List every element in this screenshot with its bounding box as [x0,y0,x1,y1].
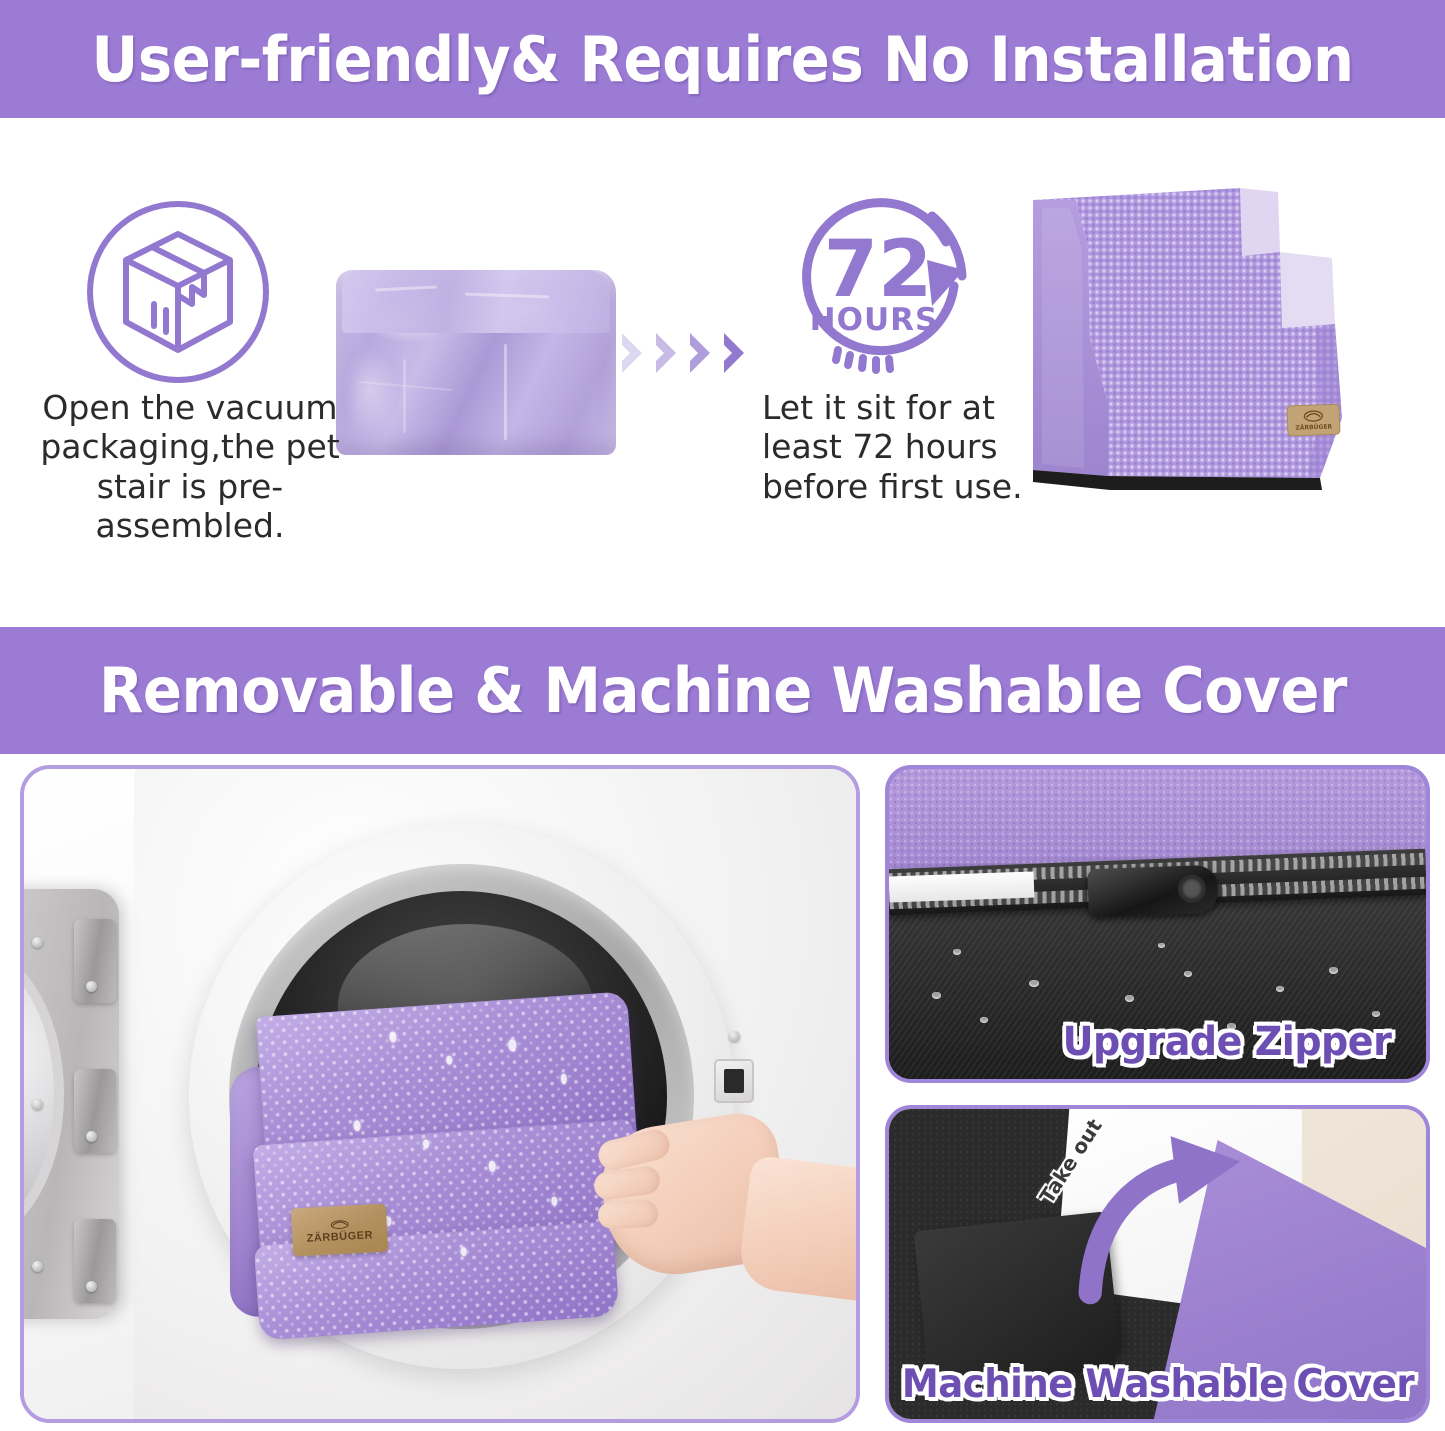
step-caption-open-packaging: Open the vacuum packaging,the pet stair … [20,388,360,545]
svg-text:HOURS: HOURS [810,302,939,338]
chevron-right-icon [686,329,716,377]
photo-card-machine-washable-cover: Take out Machine Washable Cover [885,1105,1430,1423]
purple-cover-blanket [238,990,660,1352]
package-box-icon [78,192,278,392]
step-caption-let-it-sit: Let it sit for at least 72 hours before … [762,388,1052,506]
brand-tag: ZÄRBÜGER [291,1204,388,1257]
72-hours-icon: 72 HOURS [786,190,978,380]
label-machine-washable-cover: Machine Washable Cover [901,1362,1413,1407]
chevron-right-icon-group [618,326,778,380]
banner-top-title: User-friendly& Requires No Installation [91,23,1353,96]
chevron-right-icon [652,329,682,377]
photo-card-upgrade-zipper: Upgrade Zipper [885,765,1430,1083]
brand-tag-text: ZÄRBÜGER [306,1229,373,1244]
banner-removable-washable: Removable & Machine Washable Cover [0,627,1445,754]
hand-holding-cover [604,1121,860,1326]
setup-steps-section: 72 HOURS [0,118,1445,627]
photo-card-washing-machine: ZÄRBÜGER [20,765,860,1423]
vacuum-packed-foam-image [336,270,616,455]
chevron-right-icon [618,329,648,377]
chevron-right-icon [720,329,750,377]
infographic-page: User-friendly& Requires No Installation [0,0,1445,1431]
washer-latch [714,1059,754,1103]
svg-text:ZÄRBÜGER: ZÄRBÜGER [1295,423,1332,431]
banner-middle-title: Removable & Machine Washable Cover [98,654,1346,727]
label-upgrade-zipper: Upgrade Zipper [1063,1019,1392,1065]
zipper-slider [1087,864,1219,917]
washable-cover-section: ZÄRBÜGER [0,754,1445,1431]
banner-user-friendly: User-friendly& Requires No Installation [0,0,1445,118]
